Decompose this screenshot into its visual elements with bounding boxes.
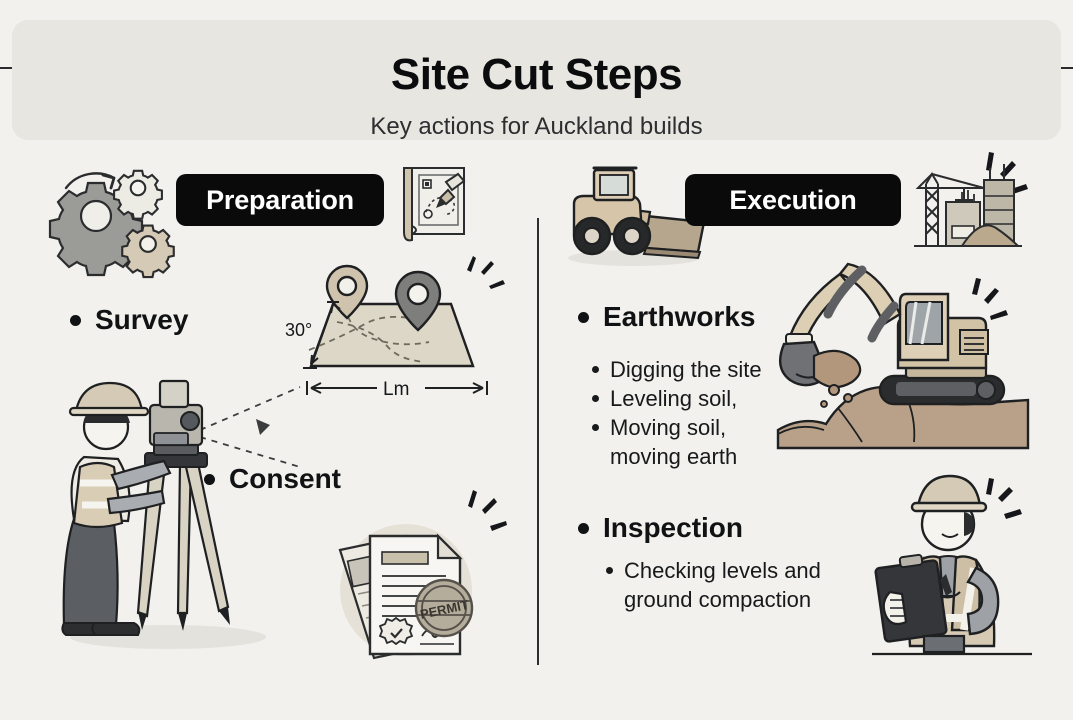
sublist-inspection: Checking levels and ground compaction bbox=[606, 556, 906, 614]
column-divider bbox=[537, 218, 539, 665]
bullet-inspection-label: Inspection bbox=[603, 511, 743, 545]
list-item: Checking levels and ground compaction bbox=[606, 556, 906, 614]
page-subtitle: Key actions for Auckland builds bbox=[12, 113, 1061, 141]
excavator-digging-illustration bbox=[778, 258, 1028, 448]
permit-documents-illustration: PERMIT bbox=[318, 490, 508, 670]
blueprint-pencil-icon bbox=[396, 162, 472, 248]
gears-icon bbox=[52, 152, 178, 272]
sub-bullet-dot bbox=[592, 395, 599, 402]
construction-site-icon bbox=[908, 150, 1028, 260]
svg-text:30°: 30° bbox=[285, 320, 312, 340]
sub-item-text: Digging the site bbox=[610, 355, 762, 384]
sub-bullet-dot bbox=[606, 567, 613, 574]
surveyor-theodolite-illustration bbox=[50, 375, 300, 655]
header-panel: Site Cut Steps Key actions for Auckland … bbox=[12, 20, 1061, 140]
bullet-inspection: Inspection bbox=[578, 511, 743, 545]
bullet-earthworks: Earthworks bbox=[578, 300, 756, 334]
bullet-earthworks-label: Earthworks bbox=[603, 300, 756, 334]
badge-execution[interactable]: Execution bbox=[685, 174, 901, 226]
badge-preparation[interactable]: Preparation bbox=[176, 174, 384, 226]
bullet-survey-label: Survey bbox=[95, 303, 188, 337]
site-map-diagram: 30° Lm bbox=[285, 258, 515, 408]
sub-bullet-dot bbox=[592, 424, 599, 431]
bullet-dot bbox=[578, 312, 589, 323]
sub-item-text: Moving soil, moving earth bbox=[610, 413, 737, 471]
bullet-dot bbox=[204, 474, 215, 485]
inspector-clipboard-illustration bbox=[862, 468, 1062, 668]
bullet-dot bbox=[70, 315, 81, 326]
sub-item-text: Leveling soil, bbox=[610, 384, 737, 413]
bullet-survey: Survey bbox=[70, 303, 188, 337]
sub-bullet-dot bbox=[592, 366, 599, 373]
page-title: Site Cut Steps bbox=[12, 50, 1061, 100]
svg-text:Lm: Lm bbox=[383, 379, 409, 400]
sub-item-text: Checking levels and ground compaction bbox=[624, 556, 821, 614]
infographic-canvas: Site Cut Steps Key actions for Auckland … bbox=[0, 0, 1073, 720]
bullet-dot bbox=[578, 523, 589, 534]
